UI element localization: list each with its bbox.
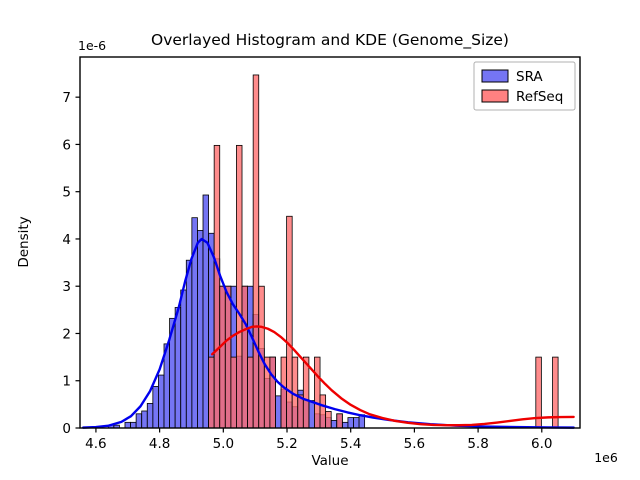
histogram-bar bbox=[270, 357, 276, 428]
x-tick-label: 5.8 bbox=[467, 436, 488, 452]
y-tick-label: 3 bbox=[62, 279, 71, 295]
legend-swatch-sra bbox=[482, 70, 508, 82]
histogram-bar bbox=[209, 357, 215, 428]
y-tick-label: 6 bbox=[62, 137, 71, 153]
histogram-bar bbox=[220, 286, 226, 428]
histogram-bar bbox=[197, 230, 203, 428]
histogram-bar bbox=[175, 307, 181, 428]
histogram-bar bbox=[303, 357, 309, 428]
histogram-bar bbox=[153, 386, 159, 428]
x-tick-label: 5.2 bbox=[276, 436, 297, 452]
histogram-bar bbox=[337, 414, 343, 428]
legend-label-refseq: RefSeq bbox=[516, 89, 563, 105]
chart-title: Overlayed Histogram and KDE (Genome_Size… bbox=[151, 31, 509, 50]
x-tick-label: 4.6 bbox=[85, 436, 106, 452]
x-axis-offset-label: 1e6 bbox=[594, 450, 618, 465]
histogram-bar bbox=[314, 357, 320, 428]
histogram-bar bbox=[231, 357, 237, 428]
histogram-bar bbox=[281, 357, 287, 428]
x-tick-label: 4.8 bbox=[149, 436, 170, 452]
histogram-bar bbox=[236, 145, 242, 428]
histogram-bar bbox=[275, 396, 281, 428]
histogram-bar bbox=[287, 216, 293, 428]
histogram-bar bbox=[181, 290, 187, 428]
histogram-kde-plot: 4.64.85.05.25.45.65.86.0 01234567 Value … bbox=[0, 0, 640, 480]
histogram-bar bbox=[147, 403, 153, 428]
x-tick-label: 5.4 bbox=[340, 436, 361, 452]
histogram-bar bbox=[214, 145, 220, 428]
histogram-bar bbox=[253, 75, 259, 428]
y-tick-label: 7 bbox=[62, 90, 71, 106]
histogram-bar bbox=[348, 418, 354, 428]
y-axis-offset-label: 1e-6 bbox=[78, 38, 106, 53]
histogram-bar bbox=[353, 418, 359, 428]
y-tick-label: 4 bbox=[62, 232, 71, 248]
legend-swatch-refseq bbox=[482, 90, 508, 102]
y-tick-label: 2 bbox=[62, 326, 71, 342]
histogram-bar bbox=[125, 422, 131, 428]
x-tick-label: 5.6 bbox=[404, 436, 425, 452]
histogram-bar bbox=[131, 422, 137, 428]
chart-legend: SRA RefSeq bbox=[474, 62, 575, 110]
histogram-bar bbox=[326, 411, 332, 428]
histogram-bar bbox=[331, 420, 337, 428]
histogram-bar bbox=[298, 395, 304, 428]
x-axis-label: Value bbox=[311, 453, 348, 469]
y-tick-label: 1 bbox=[62, 374, 71, 390]
histogram-bar bbox=[136, 414, 142, 428]
plot-background bbox=[80, 57, 580, 428]
y-tick-label: 5 bbox=[62, 185, 71, 201]
histogram-bar bbox=[309, 401, 315, 428]
histogram-bar bbox=[142, 411, 148, 428]
histogram-bar bbox=[225, 286, 231, 428]
x-tick-label: 5.0 bbox=[213, 436, 234, 452]
x-axis-ticks: 4.64.85.05.25.45.65.86.0 bbox=[85, 428, 552, 452]
x-tick-label: 6.0 bbox=[531, 436, 552, 452]
y-tick-label: 0 bbox=[62, 421, 71, 437]
chart-figure: 4.64.85.05.25.45.65.86.0 01234567 Value … bbox=[0, 0, 640, 480]
y-axis-label: Density bbox=[16, 216, 32, 267]
histogram-bar bbox=[242, 286, 248, 428]
histogram-bar bbox=[320, 395, 326, 428]
histogram-bar bbox=[248, 357, 254, 428]
y-axis-ticks: 01234567 bbox=[62, 90, 80, 437]
histogram-bar bbox=[186, 260, 192, 428]
histogram-bar bbox=[203, 195, 209, 428]
legend-label-sra: SRA bbox=[516, 69, 543, 85]
histogram-bar bbox=[158, 375, 164, 428]
histogram-bar bbox=[342, 422, 348, 428]
